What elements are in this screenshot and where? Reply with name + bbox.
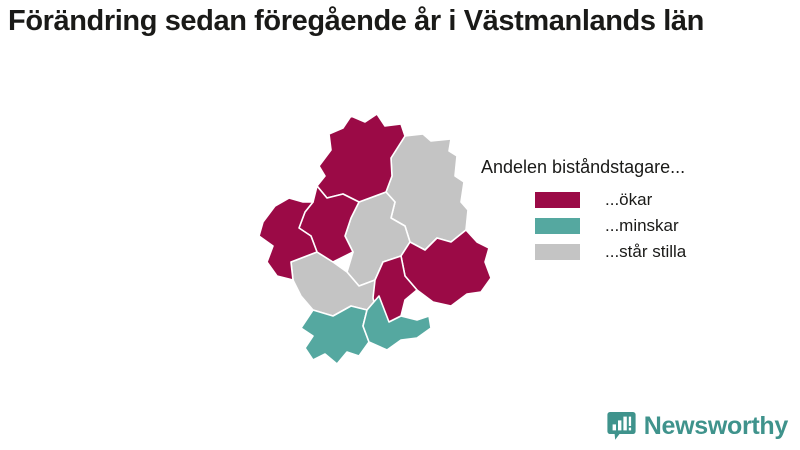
newsworthy-logo[interactable]: Newsworthy bbox=[607, 411, 788, 441]
page-title: Förändring sedan föregående år i Västman… bbox=[8, 4, 778, 38]
legend-swatch-increasing bbox=[535, 192, 580, 208]
map-area-south-west[interactable] bbox=[301, 306, 369, 364]
legend-swatch-decreasing bbox=[535, 218, 580, 234]
brand-name: Newsworthy bbox=[644, 412, 788, 441]
choropleth-map bbox=[255, 110, 515, 375]
legend-item-increasing[interactable]: ...ökar bbox=[481, 187, 781, 213]
legend-label-unchanged: ...står stilla bbox=[605, 242, 686, 262]
legend: Andelen biståndstagare... ...ökar ...min… bbox=[481, 157, 781, 265]
legend-label-decreasing: ...minskar bbox=[605, 216, 679, 236]
legend-swatch-unchanged bbox=[535, 244, 580, 260]
legend-item-decreasing[interactable]: ...minskar bbox=[481, 213, 781, 239]
bar-chart-badge-icon bbox=[607, 411, 636, 441]
legend-title: Andelen biståndstagare... bbox=[481, 157, 781, 178]
legend-label-increasing: ...ökar bbox=[605, 190, 652, 210]
map-svg bbox=[255, 110, 515, 375]
legend-item-unchanged[interactable]: ...står stilla bbox=[481, 239, 781, 265]
